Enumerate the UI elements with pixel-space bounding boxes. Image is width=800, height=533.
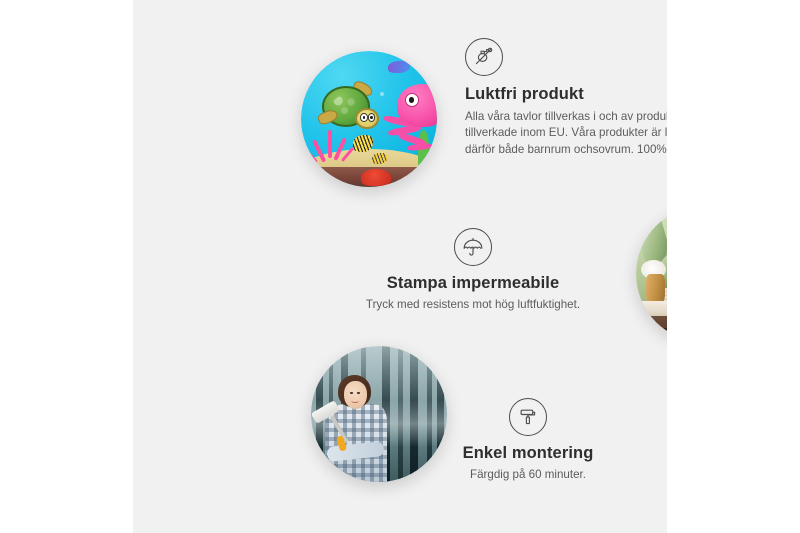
coral-icon [309,130,355,171]
crab-icon [361,169,391,185]
feature-title: Stampa impermeabile [328,274,618,293]
face [344,381,367,408]
feature-panel: Luktfri produkt Alla våra tavlor tillver… [133,0,667,533]
feature-description: Färgdig på 60 minuter. [433,467,623,483]
feature-description: Alla våra tavlor tillverkas i och av pro… [465,109,667,158]
product-feature-banner: Luktfri produkt Alla våra tavlor tillver… [0,0,800,533]
feature-easy-mounting: Enkel montering Färgdig på 60 minuter. [433,398,623,483]
bathroom-leaf-wallpaper-photo [636,206,667,342]
feature-title: Enkel montering [433,444,623,463]
countertop [636,301,667,317]
paint-roller-icon [509,398,547,436]
no-spray-bottle-icon [465,38,503,76]
ocean-cartoon-photo [301,51,437,187]
umbrella-icon [454,228,492,266]
fish-icon [372,153,387,164]
turtle-icon [316,86,376,134]
fish-icon [388,61,410,73]
bubble-icon [380,92,384,96]
feature-title: Luktfri produkt [465,85,667,104]
feature-odourless-product: Luktfri produkt Alla våra tavlor tillver… [465,38,667,158]
octopus-icon [385,84,437,149]
decorator-forest-photo [311,346,447,482]
drawer-divider [644,328,667,330]
feature-description: Tryck med resistens mot hög luftfuktighe… [328,297,618,313]
fish-icon [353,135,373,151]
feature-waterproof-print: Stampa impermeabile Tryck med resistens … [328,228,618,313]
